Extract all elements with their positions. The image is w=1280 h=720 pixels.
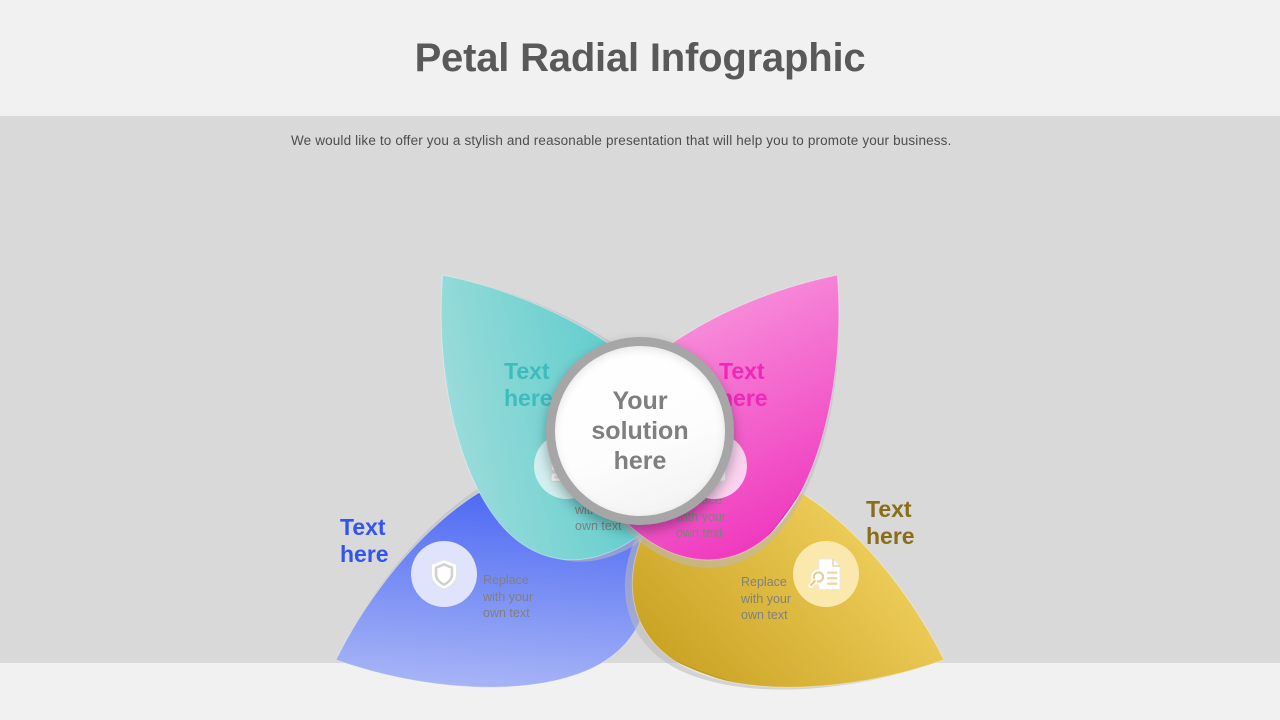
page-title: Petal Radial Infographic bbox=[415, 36, 866, 81]
hub-label: Your solution here bbox=[591, 386, 688, 476]
document-search-icon bbox=[793, 541, 859, 607]
center-hub[interactable]: Your solution here bbox=[546, 337, 734, 525]
title-band: Petal Radial Infographic bbox=[0, 0, 1280, 116]
shield-icon bbox=[411, 541, 477, 607]
slide-canvas: Petal Radial Infographic We would like t… bbox=[0, 0, 1280, 720]
